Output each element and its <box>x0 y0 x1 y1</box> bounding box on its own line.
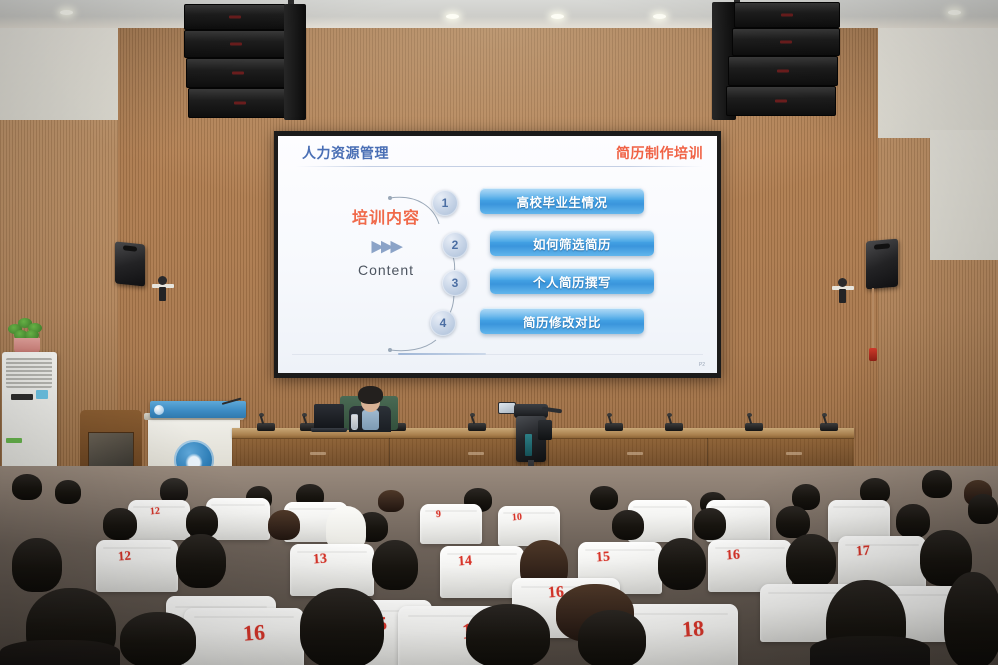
audience-head <box>658 538 706 590</box>
ac-vent-grill <box>6 358 52 388</box>
table-pull-3 <box>627 452 643 455</box>
line-array-box-l3 <box>186 58 290 88</box>
audience-head <box>120 612 196 665</box>
line-array-box-l2 <box>184 30 288 58</box>
audience-head <box>12 474 42 500</box>
step-node-2: 2 <box>442 232 468 258</box>
presenter-laptop-screen <box>314 404 344 428</box>
slide-page-number: P2 <box>699 362 705 368</box>
conference-microphone-5 <box>605 423 623 431</box>
wall-speaker-right <box>866 239 898 290</box>
seat-number: 15 <box>595 550 610 567</box>
audience-head <box>12 538 62 592</box>
projection-screen: 人力资源管理 简历制作培训 培训内容 ▶▶▶ Content 1 2 3 <box>274 131 721 378</box>
seat-number: 12 <box>150 506 161 518</box>
presenter-shirt <box>362 410 379 430</box>
audience-head <box>694 508 726 540</box>
line-array-box-r1 <box>734 2 840 28</box>
right-wall-upper-band <box>878 28 998 138</box>
audience-head <box>176 534 226 588</box>
audience-chair <box>420 504 482 544</box>
table-pull-2 <box>468 452 484 455</box>
camera-body-right <box>839 289 846 303</box>
presenter-hair <box>358 386 383 404</box>
ceiling-speaker-left <box>184 2 314 122</box>
seat-number: 14 <box>457 554 472 571</box>
conference-microphone-4 <box>468 423 486 431</box>
seat-number: 12 <box>117 548 131 565</box>
right-wall-upper-band-2 <box>930 130 998 260</box>
conference-microphone-7 <box>745 423 763 431</box>
slide-item-bar-2: 如何筛选简历 <box>490 230 654 256</box>
line-array-box-l4 <box>188 88 292 118</box>
audience-head <box>944 572 998 665</box>
seat-number: 16 <box>725 548 740 565</box>
audience-head <box>268 510 300 540</box>
presenter-laptop-base <box>311 428 347 432</box>
conference-microphone-8 <box>820 423 838 431</box>
line-array-box-r3 <box>728 56 838 86</box>
camera-lens <box>538 420 552 440</box>
potted-plant-pot <box>14 338 40 353</box>
audience-head <box>466 604 550 665</box>
downlight-4 <box>948 10 961 15</box>
audience-head <box>776 506 810 538</box>
camera-body-left <box>159 287 166 301</box>
audience-head <box>300 588 384 665</box>
camera-head-left <box>158 276 167 285</box>
wall-conduit-right <box>872 288 874 350</box>
left-wall-upper-band <box>0 28 118 120</box>
slide-item-bar-1: 高校毕业生情况 <box>480 188 644 214</box>
downlight-2 <box>551 14 564 19</box>
presentation-slide: 人力资源管理 简历制作培训 培训内容 ▶▶▶ Content 1 2 3 <box>278 136 717 373</box>
table-pull-4 <box>786 452 802 455</box>
security-camera-right <box>832 278 860 306</box>
downlight-3 <box>653 14 666 19</box>
audience-head <box>378 490 404 512</box>
audience-head <box>372 540 418 590</box>
line-array-box-r2 <box>732 28 840 56</box>
slide-item-bar-3: 个人简历撰写 <box>490 268 654 294</box>
conference-microphone-6 <box>665 423 683 431</box>
step-node-4: 4 <box>430 310 456 336</box>
step-node-1: 1 <box>432 190 458 216</box>
audience-head <box>896 504 930 538</box>
audience-head <box>612 510 644 540</box>
podium-nameplate <box>150 401 246 418</box>
audience-head <box>55 480 81 504</box>
audience-head <box>590 486 618 510</box>
audience-head <box>578 610 646 665</box>
slide-footer-accent <box>398 353 486 355</box>
seat-number: 17 <box>855 544 870 561</box>
slide-footer-divider <box>292 354 703 355</box>
line-array-box-r4 <box>726 86 836 116</box>
table-pull-1 <box>310 452 326 455</box>
downlight-1 <box>446 14 459 19</box>
fire-alarm-right <box>869 348 877 361</box>
audience-head <box>922 470 952 498</box>
ceiling-speaker-right <box>712 0 846 122</box>
water-bottle <box>351 414 358 430</box>
camera-battery <box>525 434 532 456</box>
slide-item-bar-4: 简历修改对比 <box>480 308 644 334</box>
wall-speaker-left <box>115 241 145 286</box>
seat-number: 16 <box>242 619 266 646</box>
auditorium-scene: 人力资源管理 简历制作培训 培训内容 ▶▶▶ Content 1 2 3 <box>0 0 998 665</box>
step-node-3: 3 <box>442 270 468 296</box>
line-array-box-l1 <box>184 4 286 30</box>
seat-number: 13 <box>312 552 327 569</box>
ac-display-panel <box>11 394 33 400</box>
audience-chair <box>96 540 178 592</box>
audience-head <box>968 494 998 524</box>
audience-head <box>786 534 836 588</box>
audience-shoulders <box>0 640 120 665</box>
audience-shoulders <box>810 636 930 665</box>
conference-microphone-1 <box>257 423 275 431</box>
podium-logo-icon <box>154 405 164 415</box>
seat-number: 10 <box>512 512 523 524</box>
line-array-rigging-left <box>284 4 306 120</box>
seat-number: 18 <box>681 615 705 642</box>
camera-head-right <box>838 278 847 287</box>
downlight-5 <box>60 10 73 15</box>
audience-head <box>103 508 137 540</box>
ac-eco-stripe <box>6 438 22 443</box>
security-camera-left <box>152 276 180 304</box>
ceiling <box>0 0 998 30</box>
ac-brand-badge <box>36 390 48 399</box>
seat-number: 9 <box>436 509 442 520</box>
